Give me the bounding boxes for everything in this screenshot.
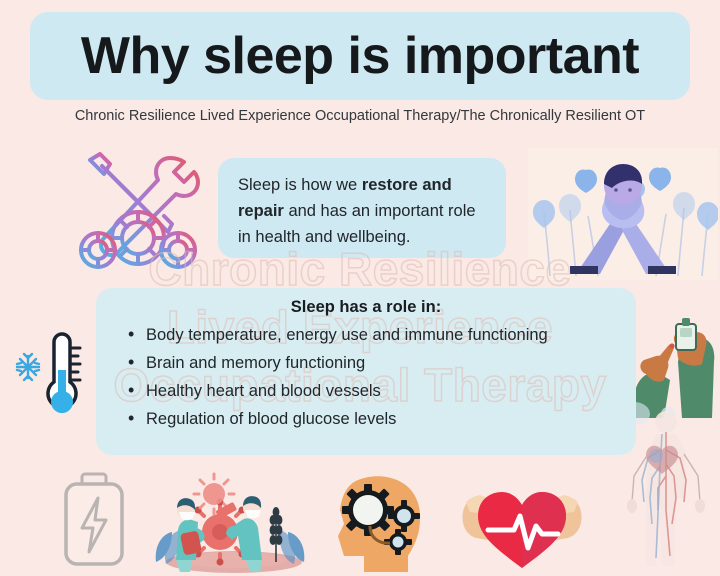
restore-box-text: Sleep is how we restore and repair and h… <box>218 158 506 258</box>
restore-lead: Sleep is how we <box>238 176 362 194</box>
heart-strength-icon <box>458 472 586 576</box>
tools-and-gears-icon <box>66 150 218 272</box>
person-stretching-illustration <box>528 148 718 280</box>
list-item: Healthy heart and blood vessels <box>128 377 626 405</box>
page-subtitle: Chronic Resilience Lived Experience Occu… <box>0 108 720 124</box>
poster-canvas: Chronic Resilience Lived Experience Occu… <box>0 0 720 576</box>
list-item: Regulation of blood glucose levels <box>128 405 626 433</box>
head-gears-icon <box>326 470 436 576</box>
roles-heading: Sleep has a role in: <box>106 298 626 317</box>
page-title: Why sleep is important <box>30 12 690 100</box>
immune-system-illustration <box>152 470 310 576</box>
roles-box-content: Sleep has a role in: Body temperature, e… <box>96 288 636 455</box>
roles-list: Body temperature, energy use and immune … <box>106 321 626 433</box>
battery-charge-icon <box>52 468 136 572</box>
list-item: Body temperature, energy use and immune … <box>128 321 626 349</box>
list-item: Brain and memory functioning <box>128 349 626 377</box>
thermometer-snowflake-icon <box>14 328 88 424</box>
